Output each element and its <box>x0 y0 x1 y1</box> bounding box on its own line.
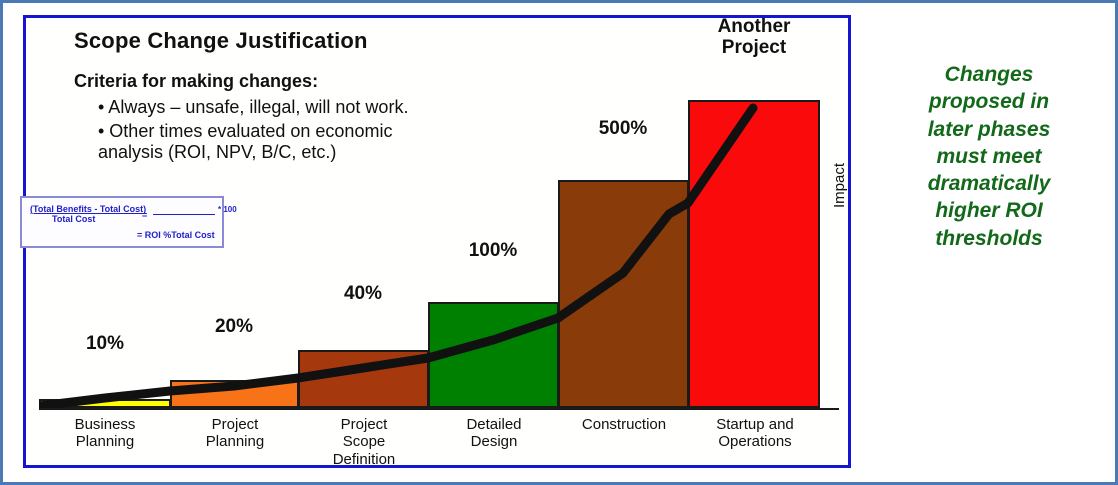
chart-baseline <box>39 408 839 410</box>
impact-axis-label: Impact <box>831 163 848 208</box>
category-label-construction: Construction <box>558 416 690 433</box>
chart-panel: Scope Change Justification Criteria for … <box>23 15 851 468</box>
category-axis: Business Planning Project Planning Proje… <box>39 416 839 478</box>
category-label-detailed-design: Detailed Design <box>433 416 555 451</box>
category-label-startup-and-operations: Startup and Operations <box>689 416 821 451</box>
category-label-project-planning: Project Planning <box>174 416 296 451</box>
category-label-project-scope-definition: Project Scope Definition <box>303 416 425 468</box>
category-label-business-planning: Business Planning <box>44 416 166 451</box>
impact-trend-line <box>39 18 839 408</box>
roi-threshold-callout: Changes proposed in later phases must me… <box>865 61 1113 252</box>
plot-area: 10% 20% 40% 100% 500% Another Project <box>39 18 839 408</box>
slide-canvas: Scope Change Justification Criteria for … <box>0 0 1118 485</box>
